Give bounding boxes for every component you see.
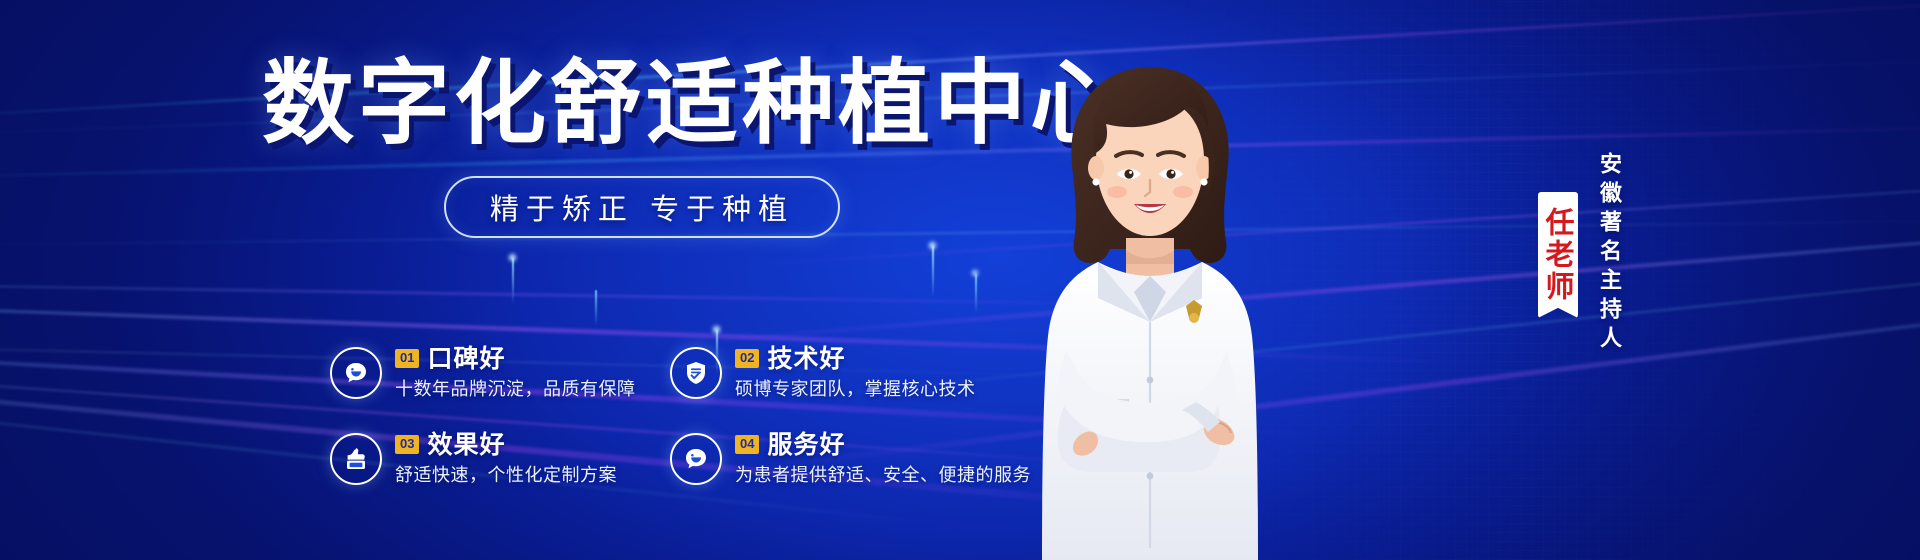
feature-text: 03 效果好 舒适快速，个性化定制方案 bbox=[395, 431, 617, 488]
shield-check-icon bbox=[670, 347, 722, 399]
feature-list: 01 口碑好 十数年品牌沉淀，品质有保障 02 技术好 bbox=[330, 330, 1060, 502]
feature-desc: 硕博专家团队，掌握核心技术 bbox=[735, 375, 976, 401]
feature-text: 01 口碑好 十数年品牌沉淀，品质有保障 bbox=[395, 345, 636, 402]
feature-item-01[interactable]: 01 口碑好 十数年品牌沉淀，品质有保障 bbox=[330, 330, 670, 416]
feature-title: 技术好 bbox=[767, 345, 845, 373]
feature-desc: 为患者提供舒适、安全、便捷的服务 bbox=[735, 461, 1031, 487]
feature-desc: 舒适快速，个性化定制方案 bbox=[395, 461, 617, 487]
doctor-illustration bbox=[1000, 50, 1300, 560]
feature-text: 02 技术好 硕博专家团队，掌握核心技术 bbox=[735, 345, 976, 402]
feature-desc: 十数年品牌沉淀，品质有保障 bbox=[395, 375, 636, 401]
thumbs-up-icon bbox=[330, 433, 382, 485]
name-ribbon-badge: 任老师 bbox=[1538, 192, 1578, 318]
subtitle-pill: 精于矫正 专于种植 bbox=[444, 176, 840, 238]
feature-number: 03 bbox=[395, 435, 419, 453]
feature-text: 04 服务好 为患者提供舒适、安全、便捷的服务 bbox=[735, 431, 1031, 488]
page-title: 数字化舒适种植中心 bbox=[262, 58, 1022, 150]
dental-promo-banner: 数字化舒适种植中心 精于矫正 专于种植 01 口碑好 十数年品牌沉淀，品质有保障 bbox=[0, 0, 1920, 560]
feature-title: 服务好 bbox=[767, 431, 845, 459]
feature-number: 01 bbox=[395, 349, 419, 367]
chat-smile-icon bbox=[330, 347, 382, 399]
feature-item-03[interactable]: 03 效果好 舒适快速，个性化定制方案 bbox=[330, 416, 670, 502]
feature-number: 04 bbox=[735, 435, 759, 453]
feature-number: 02 bbox=[735, 349, 759, 367]
chat-smile-icon bbox=[670, 433, 722, 485]
feature-title: 口碑好 bbox=[427, 345, 505, 373]
spokesperson-name: 任老师 bbox=[1537, 207, 1579, 303]
feature-title: 效果好 bbox=[427, 431, 505, 459]
headline-block: 数字化舒适种植中心 精于矫正 专于种植 bbox=[262, 58, 1022, 238]
spokesperson-credential: 安徽著名主持人 bbox=[1592, 152, 1624, 355]
